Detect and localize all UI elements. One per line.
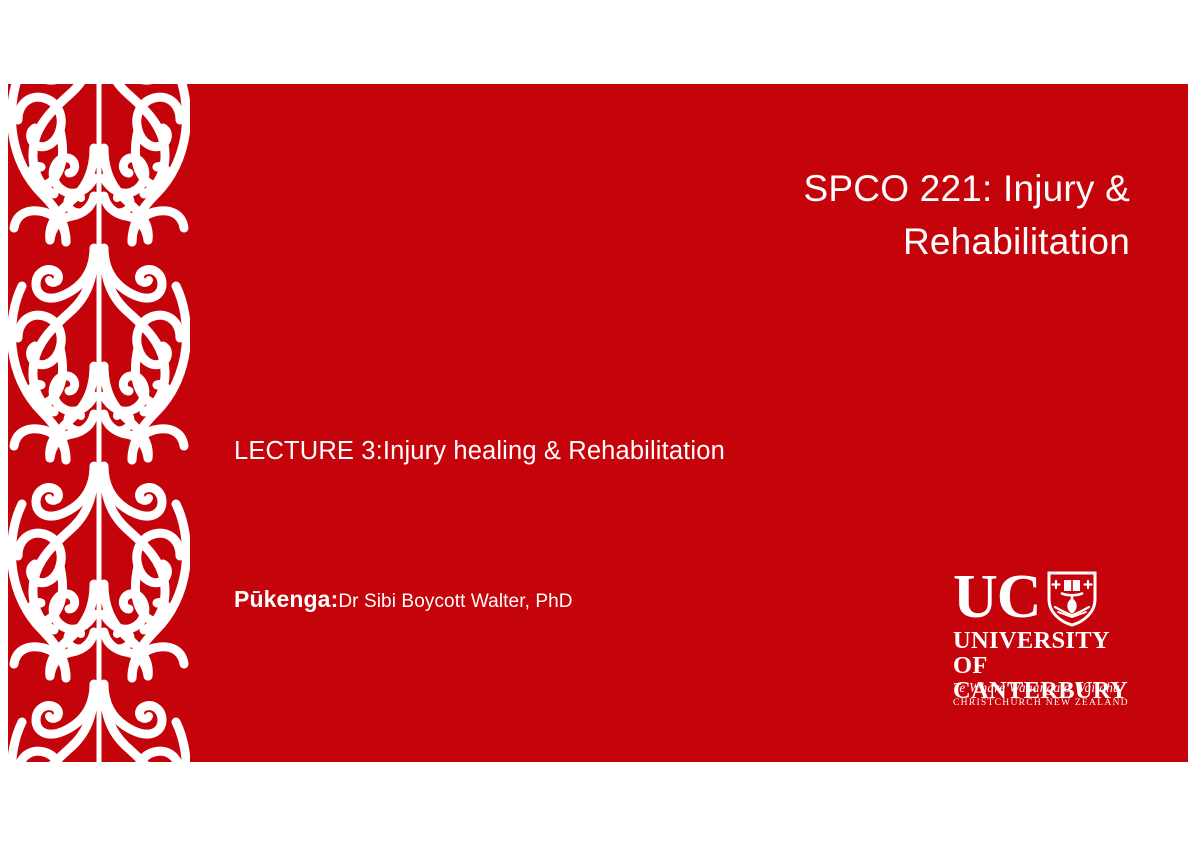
uc-maori-name: Te Whare Wananga o Waitaha: [953, 680, 1141, 696]
university-of-canterbury-logo: UC: [949, 569, 1145, 691]
uc-wordmark-row: UC: [953, 569, 1097, 632]
lecture-subtitle: LECTURE 3:Injury healing & Rehabilitatio…: [234, 437, 725, 466]
uc-crest-icon: [1047, 571, 1097, 632]
slide-title: SPCO 221: Injury & Rehabilitation: [490, 163, 1130, 268]
presenter-name: Dr Sibi Boycott Walter, PhD: [338, 591, 572, 612]
lecture-title-slide: SPCO 221: Injury & Rehabilitation LECTUR…: [8, 84, 1188, 762]
presenter-label: Pūkenga:: [234, 586, 338, 612]
uc-name-line-1: UNIVERSITY OF: [953, 628, 1141, 678]
presenter-line: Pūkenga:Dr Sibi Boycott Walter, PhD: [234, 586, 573, 613]
kowhaiwhai-koru-border: [8, 84, 190, 762]
uc-initials: UC: [953, 569, 1041, 626]
uc-city-line: CHRISTCHURCH NEW ZEALAND: [953, 697, 1141, 708]
